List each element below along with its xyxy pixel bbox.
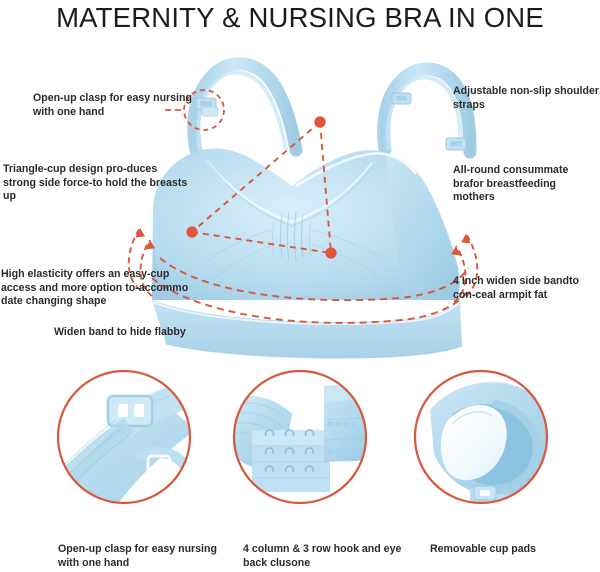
arrow-head-left-outer (136, 228, 146, 238)
rib-texture (508, 476, 550, 506)
annotation-widen-band: Widen band to hide flabby (54, 326, 244, 340)
detail-caption-cup-pads: Removable cup pads (430, 543, 600, 557)
annotation-shoulder-straps: Adjustable non-slip shoulder straps (453, 85, 599, 112)
detail-caption-hook-eye: 4 column & 3 row hook and eye back cluso… (243, 543, 413, 570)
detail-caption-clasp: Open-up clasp for easy nursing with one … (58, 543, 228, 570)
hook-column (327, 421, 357, 455)
detail-circle-border-1 (58, 371, 190, 503)
arrow-head-left-inner (146, 240, 156, 250)
annotation-all-round: All-round consummate brafor breastfeedin… (453, 164, 599, 205)
bra-product-graphic (152, 64, 470, 358)
infographic-canvas: MATERNITY & NURSING BRA IN ONE (0, 0, 600, 572)
annotation-side-band: 4 Inch widen side bandto con-ceal armpit… (453, 275, 600, 302)
annotation-triangle-cup: Triangle-cup design pro-duces strong sid… (3, 163, 188, 204)
detail-circle-clasp (40, 371, 204, 540)
annotation-open-up-clasp: Open-up clasp for easy nursing with one … (33, 92, 193, 119)
annotation-high-elasticity: High elasticity offers an easy-cup acces… (1, 268, 206, 309)
triangle-vertex-right (325, 247, 336, 258)
elastic-arc-upper (160, 258, 468, 300)
clasp-ring (108, 396, 152, 426)
detail-circle-hook-eye (226, 371, 380, 503)
triangle-vertex-top (314, 116, 325, 127)
page-title: MATERNITY & NURSING BRA IN ONE (0, 2, 600, 34)
detail-circle-cup-pad (415, 371, 557, 508)
center-ruching (273, 212, 312, 260)
triangle-vertex-left (186, 226, 197, 237)
hook-eye-loops (265, 430, 313, 472)
arrow-head-right-inner (451, 246, 461, 256)
removable-pad (441, 405, 507, 480)
clasp-hook (140, 452, 188, 494)
triangle-cup-marker (192, 122, 331, 253)
strap-adjuster-left (196, 98, 218, 116)
arrow-head-right-outer (461, 234, 471, 244)
detail-circle-border-2 (234, 371, 366, 503)
detail-circle-border-3 (415, 371, 547, 503)
